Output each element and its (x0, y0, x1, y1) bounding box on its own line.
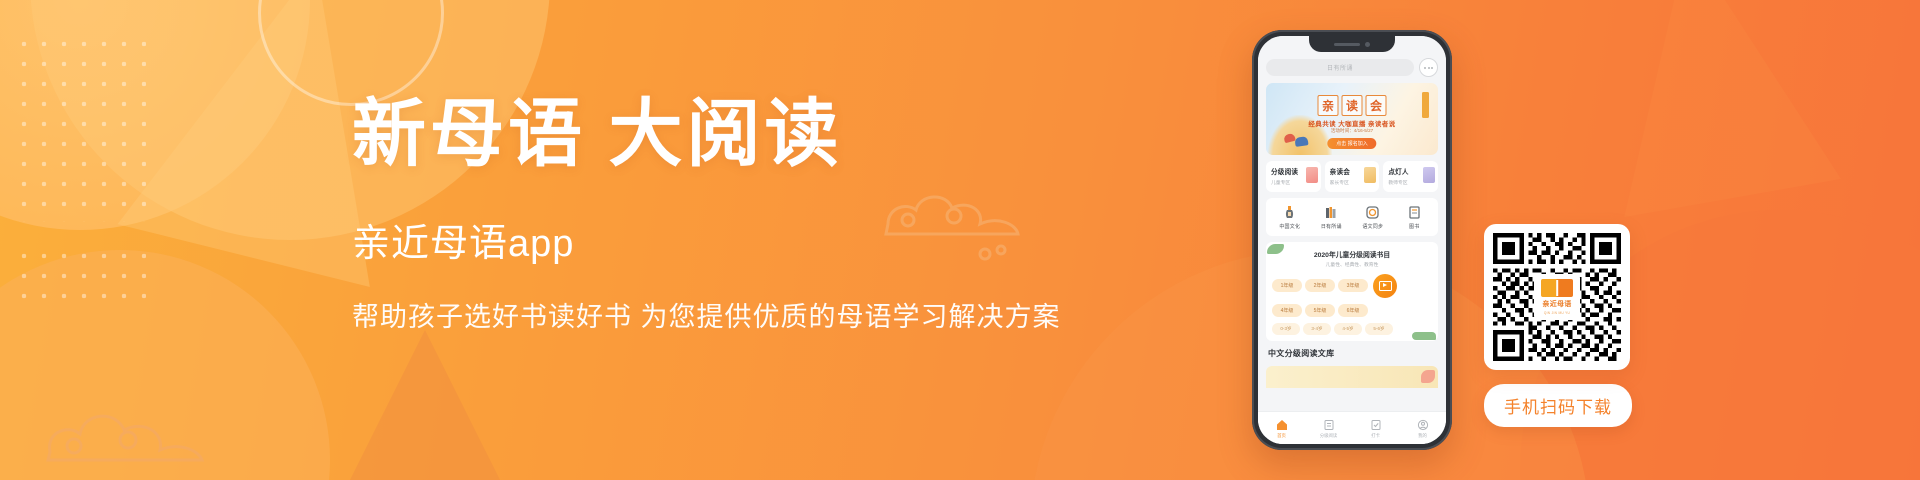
banner-app-name: 亲近母语app (352, 212, 1052, 267)
scroll-icon (1364, 167, 1376, 183)
qr-code-image: 亲近母语 QIN JIN MU YU (1493, 233, 1621, 361)
phone-card-parent-reading[interactable]: 亲读会 家长专区 (1325, 161, 1380, 192)
phone-tab-graded-reading[interactable]: 分级阅读 (1305, 419, 1352, 439)
hero-ribbon (1422, 92, 1429, 118)
phone-notch (1309, 36, 1395, 52)
banner-copy: 新母语 大阅读 亲近母语app 帮助孩子选好书读好书 为您提供优质的母语学习解决… (352, 96, 1052, 334)
dot-grid-decoration-bottom (14, 246, 146, 306)
tab-label: 我的 (1418, 433, 1427, 439)
tab-label: 打卡 (1371, 433, 1380, 439)
play-video-button[interactable] (1373, 274, 1397, 298)
quick-link-textbook-sync[interactable]: 语文同步 (1352, 205, 1394, 230)
age-chip[interactable]: 4-5岁 (1334, 323, 1362, 335)
grade-chip[interactable]: 3年级 (1338, 279, 1368, 292)
age-chip[interactable]: 3-4岁 (1303, 323, 1331, 335)
phone-screen: 日有所诵 亲 读 会 经典共读 大咖直播 亲读者说 活动时间： (1258, 36, 1446, 444)
phone-quick-links: 中国文化 日有所诵 (1266, 198, 1438, 236)
banner-headline: 新母语 大阅读 (352, 96, 1052, 176)
booklist-grade-row-2: 4年级 5年级 6年级 (1272, 304, 1432, 317)
grade-chip[interactable]: 6年级 (1338, 304, 1368, 317)
qr-logo-title: 亲近母语 (1542, 299, 1571, 309)
quick-link-label: 语文同步 (1362, 223, 1383, 230)
quick-link-label: 日有所诵 (1321, 223, 1342, 230)
books-icon (1324, 205, 1339, 220)
promo-banner: 新母语 大阅读 亲近母语app 帮助孩子选好书读好书 为您提供优质的母语学习解决… (0, 0, 1920, 480)
qr-download-block: 亲近母语 QIN JIN MU YU 手机扫码下载 (1484, 224, 1630, 427)
book-icon (1407, 205, 1422, 220)
booklist-title: 2020年儿童分级阅读书目 (1272, 249, 1432, 259)
leaf-decoration-bottom (1412, 332, 1436, 340)
phone-search-input[interactable]: 日有所诵 (1266, 59, 1414, 76)
qr-logo-subtitle: QIN JIN MU YU (1544, 311, 1570, 315)
background-blob-top-left (0, 0, 310, 230)
vase-icon (1282, 205, 1297, 220)
phone-tab-bar: 首页 分级阅读 打卡 (1258, 411, 1446, 444)
hero-subtitle: 经典共读 大咖直播 亲读者说 (1308, 118, 1395, 128)
sync-icon (1365, 205, 1380, 220)
list-icon (1323, 419, 1335, 431)
phone-library-strip[interactable] (1266, 366, 1438, 388)
hero-child-b (1294, 136, 1308, 147)
lamp-icon (1423, 167, 1435, 183)
phone-search-bar[interactable]: 日有所诵 (1266, 58, 1438, 77)
phone-tab-checkin[interactable]: 打卡 (1352, 419, 1399, 439)
background-blob-bottom-left (0, 250, 330, 480)
grade-chip[interactable]: 5年级 (1305, 304, 1335, 317)
qr-code-card[interactable]: 亲近母语 QIN JIN MU YU (1484, 224, 1630, 370)
quick-link-books[interactable]: 图书 (1394, 205, 1436, 230)
check-icon (1370, 419, 1382, 431)
hero-title-char-3: 会 (1366, 95, 1387, 116)
tab-label: 分级阅读 (1320, 433, 1338, 439)
play-icon (1379, 281, 1392, 291)
age-chip[interactable]: 5-6岁 (1365, 323, 1393, 335)
grade-chip[interactable]: 2年级 (1305, 279, 1335, 292)
phone-speaker (1334, 43, 1360, 46)
quick-link-label: 图书 (1409, 223, 1419, 230)
phone-app-content: 日有所诵 亲 读 会 经典共读 大咖直播 亲读者说 活动时间： (1258, 36, 1446, 444)
booklist-age-row: 0-3岁 3-4岁 4-5岁 5-6岁 (1272, 323, 1432, 335)
phone-tab-home[interactable]: 首页 (1258, 419, 1305, 439)
strip-decoration (1421, 370, 1435, 383)
hero-cta-button[interactable]: 点击 报名加入 (1327, 138, 1376, 149)
phone-more-icon[interactable] (1419, 58, 1438, 77)
phone-mockup: 日有所诵 亲 读 会 经典共读 大咖直播 亲读者说 活动时间： (1252, 30, 1452, 450)
hero-child-a (1283, 133, 1296, 143)
booklist-grade-row-1: 1年级 2年级 3年级 (1272, 274, 1432, 298)
phone-camera-icon (1365, 42, 1370, 47)
home-icon (1276, 419, 1288, 431)
phone-tab-profile[interactable]: 我的 (1399, 419, 1446, 439)
phone-card-teacher[interactable]: 点灯人 教师专区 (1383, 161, 1438, 192)
grade-chip[interactable]: 1年级 (1272, 279, 1302, 292)
phone-hero-banner[interactable]: 亲 读 会 经典共读 大咖直播 亲读者说 活动时间：4/16-5/27 点击 报… (1266, 83, 1438, 155)
quick-link-label: 中国文化 (1279, 223, 1300, 230)
background-wedge-b (340, 330, 510, 480)
quick-link-daily-recitation[interactable]: 日有所诵 (1311, 205, 1353, 230)
qr-center-logo: 亲近母语 QIN JIN MU YU (1534, 274, 1580, 320)
ring-decoration (258, 0, 444, 106)
dot-grid-decoration-top (14, 34, 146, 222)
hero-title-char-1: 亲 (1318, 95, 1339, 116)
open-book-icon (1541, 279, 1573, 297)
hero-title: 亲 读 会 (1318, 95, 1387, 116)
phone-category-cards: 分级阅读 儿童专区 亲读会 家长专区 点灯人 教师专区 (1266, 161, 1438, 192)
user-icon (1417, 419, 1429, 431)
background-wedge-c (1579, 0, 1841, 217)
grade-chip[interactable]: 4年级 (1272, 304, 1302, 317)
banner-tagline: 帮助孩子选好书读好书 为您提供优质的母语学习解决方案 (352, 295, 1052, 334)
booklist-subtitle: 儿童性、经典性、教育性 (1272, 261, 1432, 268)
tab-label: 首页 (1277, 433, 1286, 439)
hero-date: 活动时间：4/16-5/27 (1331, 128, 1373, 134)
phone-card-graded-reading[interactable]: 分级阅读 儿童专区 (1266, 161, 1321, 192)
cloud-ornament-bottom-icon (40, 396, 210, 466)
age-chip[interactable]: 0-3岁 (1272, 323, 1300, 335)
hero-title-char-2: 读 (1342, 95, 1363, 116)
download-button[interactable]: 手机扫码下载 (1484, 384, 1632, 427)
phone-booklist-card[interactable]: 2020年儿童分级阅读书目 儿童性、经典性、教育性 1年级 2年级 3年级 4年… (1266, 242, 1438, 341)
quick-link-chinese-culture[interactable]: 中国文化 (1269, 205, 1311, 230)
phone-section-title: 中文分级阅读文库 (1266, 347, 1438, 360)
bookmark-icon (1306, 167, 1318, 183)
